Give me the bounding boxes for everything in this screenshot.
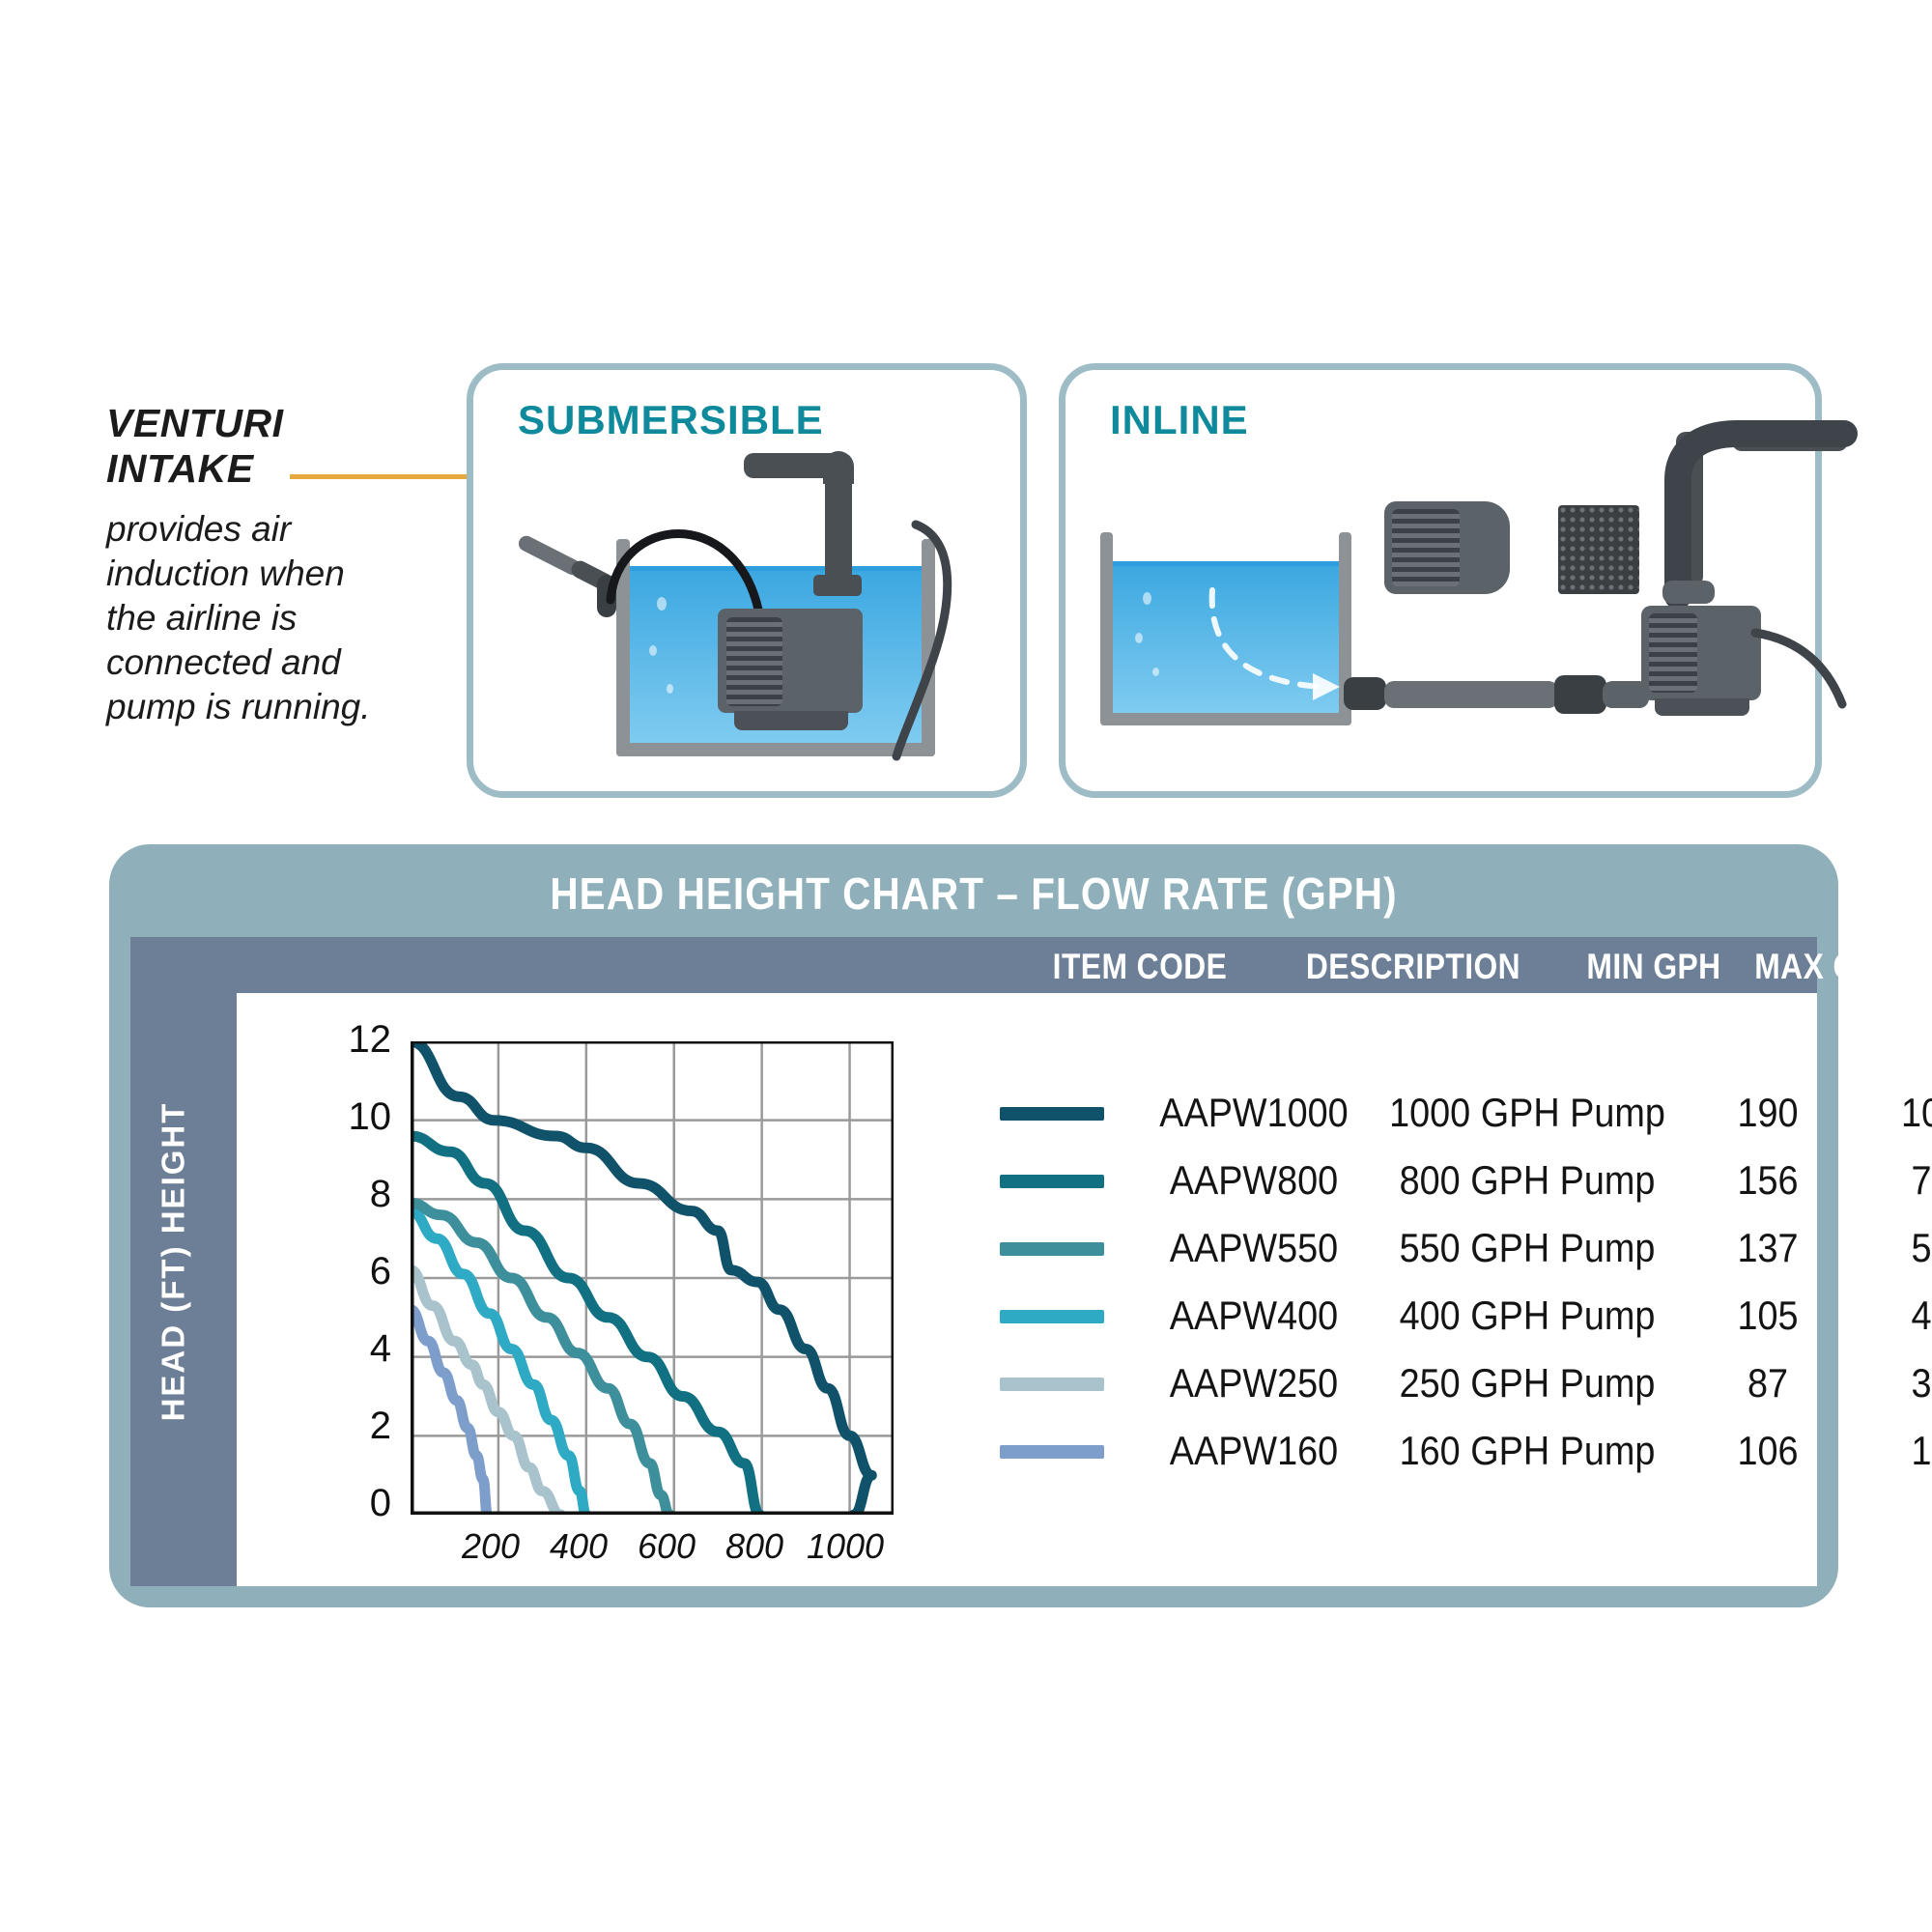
plot-svg	[411, 1041, 894, 1515]
legend-swatch	[1000, 1378, 1104, 1391]
water-bubble	[667, 684, 673, 694]
legend-swatch	[1000, 1445, 1104, 1459]
callout-body: provides air induction when the airline …	[106, 507, 396, 729]
card-inline-label: INLINE	[1110, 397, 1249, 443]
cell-max-gph: 175	[1860, 1428, 1932, 1474]
card-submersible-label: SUBMERSIBLE	[518, 397, 824, 443]
tank-water-surface	[1113, 561, 1339, 566]
submersible-pump-grill	[726, 617, 782, 706]
cell-min-gph: 87	[1686, 1360, 1851, 1406]
legend-swatch	[1000, 1107, 1104, 1121]
inline-outlet-coupler	[1662, 581, 1715, 604]
impeller-cover-grill	[1392, 509, 1460, 586]
inline-tank	[1100, 532, 1351, 725]
inline-pump-foot	[1655, 698, 1749, 716]
cell-min-gph: 137	[1686, 1225, 1851, 1271]
y-tick-6: 6	[324, 1250, 391, 1293]
venturi-callout: VENTURI INTAKE provides air induction wh…	[106, 401, 396, 729]
cell-item-code: AAPW250	[1154, 1360, 1354, 1406]
cell-item-code: AAPW550	[1154, 1225, 1354, 1271]
callout-title-line2: INTAKE	[106, 446, 396, 492]
card-inline: INLINE	[1059, 363, 1822, 798]
x-tick-1000: 1000	[787, 1526, 903, 1567]
table-row: AAPW800800 GPH Pump156795	[1000, 1150, 1908, 1217]
water-bubble	[1135, 633, 1143, 643]
inline-pump-grill	[1649, 613, 1697, 693]
cell-description: 550 GPH Pump	[1388, 1225, 1666, 1271]
cell-min-gph: 156	[1686, 1157, 1851, 1204]
chart-and-legend-area: 12 10 8 6 4 2 0 2	[237, 993, 1817, 1586]
infographic-stage: VENTURI INTAKE provides air induction wh…	[0, 0, 1932, 1932]
table-header-max-gph: MAX GPH	[1748, 947, 1906, 987]
table-header-item-code: ITEM CODE	[1044, 947, 1236, 987]
cell-min-gph: 190	[1686, 1090, 1851, 1136]
cell-min-gph: 106	[1686, 1428, 1851, 1474]
cell-item-code: AAPW800	[1154, 1157, 1354, 1204]
tank-wall-left	[1100, 532, 1113, 725]
callout-title-line1: VENTURI	[106, 401, 396, 446]
pump-legend-table: AAPW10001000 GPH Pump1901010AAPW800800 G…	[1000, 1082, 1908, 1488]
submersible-pump-foot	[734, 711, 848, 730]
legend-swatch	[1000, 1310, 1104, 1323]
water-bubble	[649, 645, 657, 656]
head-height-panel: HEAD HEIGHT CHART – FLOW RATE (GPH) ITEM…	[109, 844, 1838, 1607]
y-tick-12: 12	[324, 1018, 391, 1062]
cell-min-gph: 105	[1686, 1293, 1851, 1339]
card-submersible: SUBMERSIBLE	[467, 363, 1027, 798]
inline-power-cord	[1747, 611, 1863, 718]
inline-outlet-elbow	[1664, 412, 1867, 606]
cell-description: 400 GPH Pump	[1388, 1293, 1666, 1339]
y-tick-2: 2	[324, 1405, 391, 1448]
y-tick-10: 10	[324, 1095, 391, 1139]
cell-max-gph: 590	[1860, 1225, 1932, 1271]
table-header-description: DESCRIPTION	[1280, 947, 1546, 987]
outlet-pipe-elbow	[823, 451, 854, 484]
y-axis-label-text: HEAD (FT) HEIGHT	[155, 1102, 191, 1422]
y-tick-4: 4	[324, 1327, 391, 1371]
cell-description: 1000 GPH Pump	[1388, 1090, 1666, 1136]
flow-rate-plot: 12 10 8 6 4 2 0 2	[411, 1032, 952, 1534]
cell-description: 800 GPH Pump	[1388, 1157, 1666, 1204]
inline-hose	[1384, 681, 1558, 708]
table-row: AAPW400400 GPH Pump105400	[1000, 1285, 1908, 1352]
y-axis-label: HEAD (FT) HEIGHT	[130, 937, 215, 1586]
cell-max-gph: 400	[1860, 1293, 1932, 1339]
tank-bulkhead-fitting	[1344, 677, 1386, 710]
panel-title: HEAD HEIGHT CHART – FLOW RATE (GPH)	[213, 867, 1734, 920]
panel-inner-band: ITEM CODE DESCRIPTION MIN GPH MAX GPH 12…	[130, 937, 1817, 1586]
foam-filter	[1558, 505, 1639, 594]
cell-max-gph: 1010	[1860, 1090, 1932, 1136]
y-tick-0: 0	[324, 1482, 391, 1525]
tank-wall-bottom	[1100, 713, 1351, 725]
legend-swatch	[1000, 1242, 1104, 1256]
table-row: AAPW550550 GPH Pump137590	[1000, 1217, 1908, 1285]
table-header-min-gph: MIN GPH	[1575, 947, 1732, 987]
hose-coupler	[1554, 675, 1606, 714]
y-tick-8: 8	[324, 1173, 391, 1216]
airline-hose	[589, 496, 831, 611]
table-row: AAPW10001000 GPH Pump1901010	[1000, 1082, 1908, 1150]
table-row: AAPW250250 GPH Pump87342	[1000, 1352, 1908, 1420]
cell-max-gph: 342	[1860, 1360, 1932, 1406]
legend-swatch	[1000, 1175, 1104, 1188]
cell-item-code: AAPW400	[1154, 1293, 1354, 1339]
table-row: AAPW160160 GPH Pump106175	[1000, 1420, 1908, 1488]
cell-description: 160 GPH Pump	[1388, 1428, 1666, 1474]
flow-arrow	[1205, 581, 1350, 706]
cell-description: 250 GPH Pump	[1388, 1360, 1666, 1406]
table-header-row: ITEM CODE DESCRIPTION MIN GPH MAX GPH	[130, 937, 1817, 993]
cell-item-code: AAPW160	[1154, 1428, 1354, 1474]
cell-item-code: AAPW1000	[1154, 1090, 1354, 1136]
water-bubble	[1152, 668, 1159, 676]
cell-max-gph: 795	[1860, 1157, 1932, 1204]
water-bubble	[1143, 592, 1151, 605]
